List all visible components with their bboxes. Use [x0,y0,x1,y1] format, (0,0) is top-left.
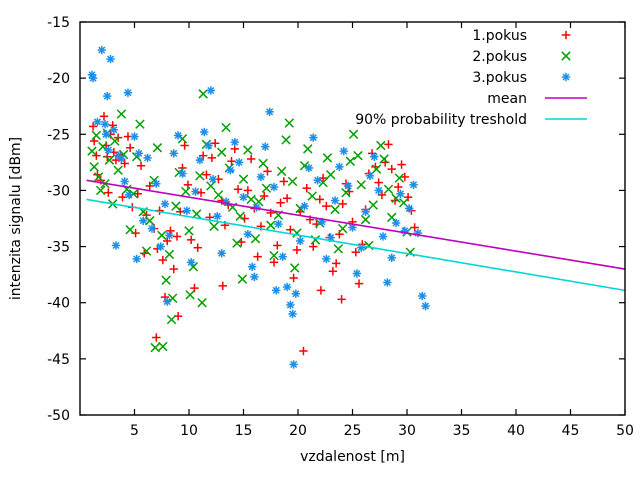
data-point [292,290,300,298]
data-point [139,217,147,225]
x-tick-label-40: 40 [507,423,525,439]
data-point [165,231,173,239]
data-point [161,200,169,208]
legend-label-3: 3.pokus [472,70,527,86]
data-point [218,249,226,257]
data-point [213,212,221,220]
data-point [187,258,195,266]
legend-label-5: 90% probability treshold [355,112,527,128]
data-point [340,147,348,155]
data-point [152,179,160,187]
data-point [124,89,132,97]
y-tick-label--25: -25 [47,127,70,143]
data-point [331,196,339,204]
data-point [388,254,396,262]
data-point [135,149,143,157]
data-point [313,176,321,184]
y-tick-label--45: -45 [47,352,70,368]
y-tick-label--15: -15 [47,15,70,31]
data-point [286,301,294,309]
data-point [289,360,297,368]
data-point [132,255,140,263]
data-point [335,163,343,171]
x-tick-label-30: 30 [398,423,416,439]
data-point [226,166,234,174]
data-point [322,255,330,263]
data-point [130,132,138,140]
data-point [283,283,291,291]
data-point [418,292,426,300]
data-point [379,232,387,240]
data-point [174,131,182,139]
data-point [125,191,133,199]
data-point [120,177,128,185]
data-point [104,146,112,154]
x-tick-label-5: 5 [130,423,139,439]
data-point [370,153,378,161]
data-point [288,310,296,318]
data-point [305,164,313,172]
data-point [178,169,186,177]
data-point [270,183,278,191]
x-tick-label-50: 50 [616,423,634,439]
x-axis-label: vzdalenost [m] [300,449,405,465]
data-point [93,118,101,126]
x-tick-label-45: 45 [562,423,580,439]
data-point [421,302,429,310]
data-point [248,263,256,271]
data-point [309,133,317,141]
x-tick-label-20: 20 [289,423,307,439]
data-point [200,128,208,136]
data-point [204,141,212,149]
data-point [163,297,171,305]
x-tick-label-15: 15 [235,423,253,439]
data-point [231,138,239,146]
data-point [265,108,273,116]
data-point [361,208,369,216]
data-point [366,172,374,180]
data-point [98,46,106,54]
y-tick-label--20: -20 [47,71,70,87]
data-point [117,155,125,163]
data-point [272,286,280,294]
data-point [89,74,97,82]
plot-root: 5101520253035404550 -15-20-25-30-35-40-4… [0,0,640,480]
data-point [196,156,204,164]
data-point [235,158,243,166]
data-point [300,202,308,210]
data-point [183,206,191,214]
data-point [112,241,120,249]
x-tick-label-35: 35 [453,423,471,439]
data-point [261,142,269,150]
x-tick-label-10: 10 [180,423,198,439]
y-tick-label--35: -35 [47,240,70,256]
data-point [207,86,215,94]
data-point [209,175,217,183]
legend-sample-marker-3 [562,73,570,81]
data-point [274,220,282,228]
x-tick-label-25: 25 [344,423,362,439]
data-point [279,252,287,260]
chart-background [0,0,640,480]
data-point [110,126,118,134]
data-point [383,278,391,286]
data-point [239,193,247,201]
data-point [148,224,156,232]
legend-label-2: 2.pokus [472,49,527,65]
data-point [103,92,111,100]
data-point [101,120,109,128]
legend-label-4: mean [487,91,527,107]
data-point [250,273,258,281]
y-tick-label--50: -50 [47,408,70,424]
data-point [392,219,400,227]
data-point [170,149,178,157]
y-tick-label--30: -30 [47,183,70,199]
scatter-chart: 5101520253035404550 -15-20-25-30-35-40-4… [0,0,640,480]
data-point [374,186,382,194]
y-axis-label: intenzita signalu [dBm] [8,137,24,300]
data-point [156,242,164,250]
data-point [409,181,417,189]
data-point [244,230,252,238]
y-tick-label--40: -40 [47,296,70,312]
data-point [106,55,114,63]
data-point [344,182,352,190]
data-point [102,130,110,138]
data-point [143,154,151,162]
data-point [296,237,304,245]
data-point [257,173,265,181]
legend-label-1: 1.pokus [472,28,527,44]
data-point [353,269,361,277]
data-point [405,204,413,212]
data-point [396,190,404,198]
data-point [191,187,199,195]
